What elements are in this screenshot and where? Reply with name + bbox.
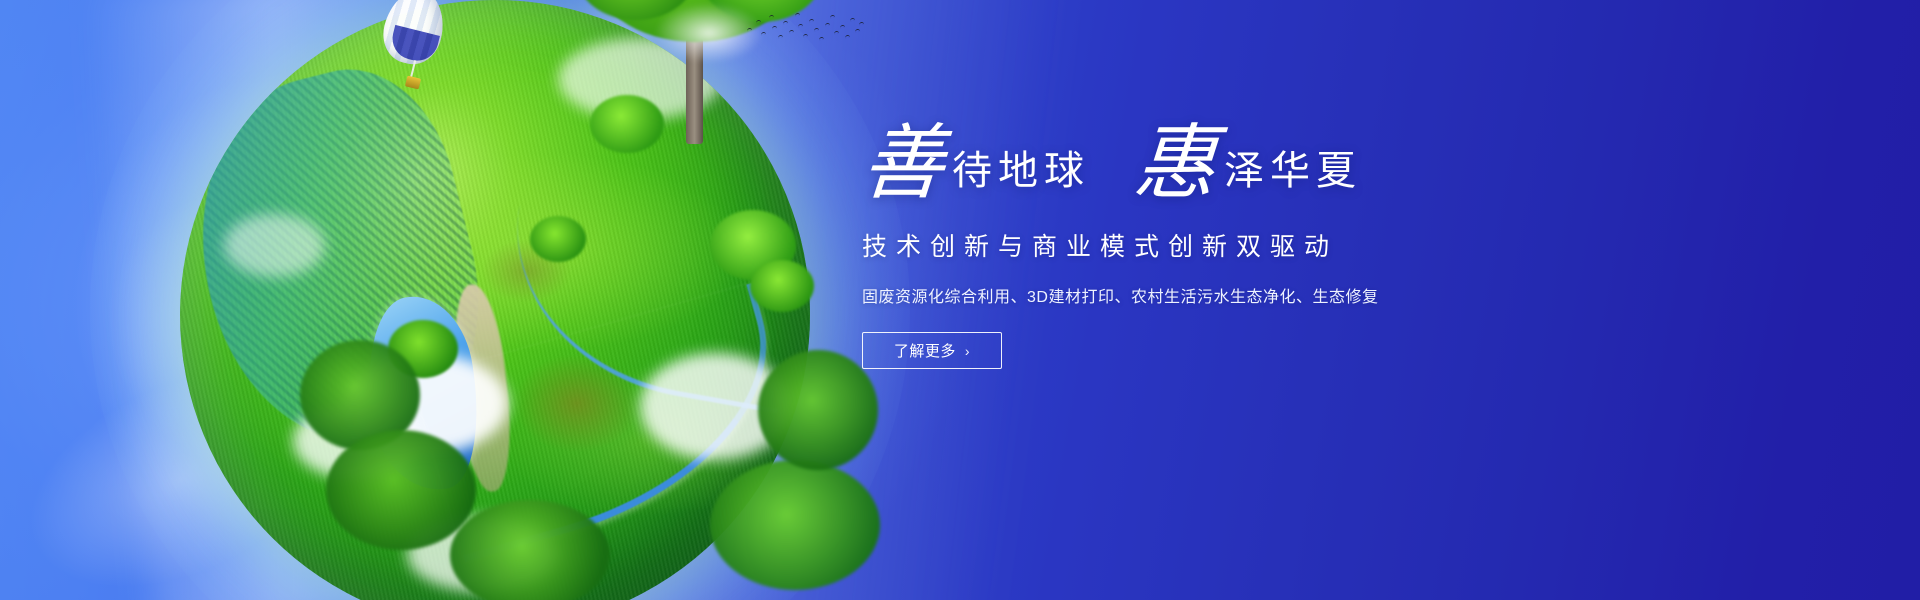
hero-banner: 善 待地球 惠 泽华夏 技术创新与商业模式创新双驱动 固废资源化综合利用、3D建…: [0, 0, 1920, 600]
hot-air-balloon-icon: [385, 0, 443, 95]
rim-tree: [758, 350, 878, 470]
hero-description: 固废资源化综合利用、3D建材打印、农村生活污水生态净化、生态修复: [862, 283, 1502, 307]
rim-tree: [326, 430, 476, 550]
bird-icon: [845, 35, 850, 39]
bird-icon: [747, 28, 752, 32]
cloud-icon: [224, 214, 325, 277]
headline-char-primary: 善: [859, 126, 946, 201]
bird-icon: [859, 22, 864, 26]
learn-more-label: 了解更多: [894, 340, 956, 361]
hero-subtitle: 技术创新与商业模式创新双驱动: [862, 227, 1502, 263]
bird-icon: [840, 25, 845, 29]
balloon-basket: [405, 75, 421, 89]
bird-icon: [795, 13, 800, 17]
chevron-right-icon: ›: [965, 344, 970, 358]
bird-icon: [789, 30, 794, 34]
headline-text-primary: 待地球: [944, 151, 1090, 201]
bird-icon: [819, 37, 824, 41]
headline-char-secondary: 惠: [1131, 126, 1218, 201]
bird-icon: [778, 35, 783, 39]
bush: [530, 216, 586, 262]
bird-icon: [769, 15, 774, 19]
bird-icon: [809, 19, 814, 23]
page-title: 善 待地球 惠 泽华夏: [862, 126, 1502, 201]
learn-more-button[interactable]: 了解更多 ›: [862, 332, 1002, 369]
bird-icon: [761, 32, 766, 36]
bird-icon: [772, 26, 777, 30]
bird-icon: [855, 29, 860, 33]
bird-icon: [798, 24, 803, 28]
globe-illustration: [150, 0, 850, 600]
bird-icon: [834, 31, 839, 35]
bird-icon: [756, 20, 761, 24]
bird-icon: [783, 21, 788, 25]
headline-text-secondary: 泽华夏: [1216, 151, 1362, 201]
bush: [750, 260, 814, 312]
bird-icon: [814, 28, 819, 32]
rim-tree: [450, 500, 610, 600]
bird-icon: [850, 18, 855, 22]
hero-copy: 善 待地球 惠 泽华夏 技术创新与商业模式创新双驱动 固废资源化综合利用、3D建…: [862, 126, 1502, 369]
bird-icon: [830, 15, 835, 19]
bird-icon: [803, 34, 808, 38]
bird-flock-icon: [745, 10, 865, 46]
rim-tree: [710, 460, 880, 590]
bird-icon: [825, 23, 830, 27]
